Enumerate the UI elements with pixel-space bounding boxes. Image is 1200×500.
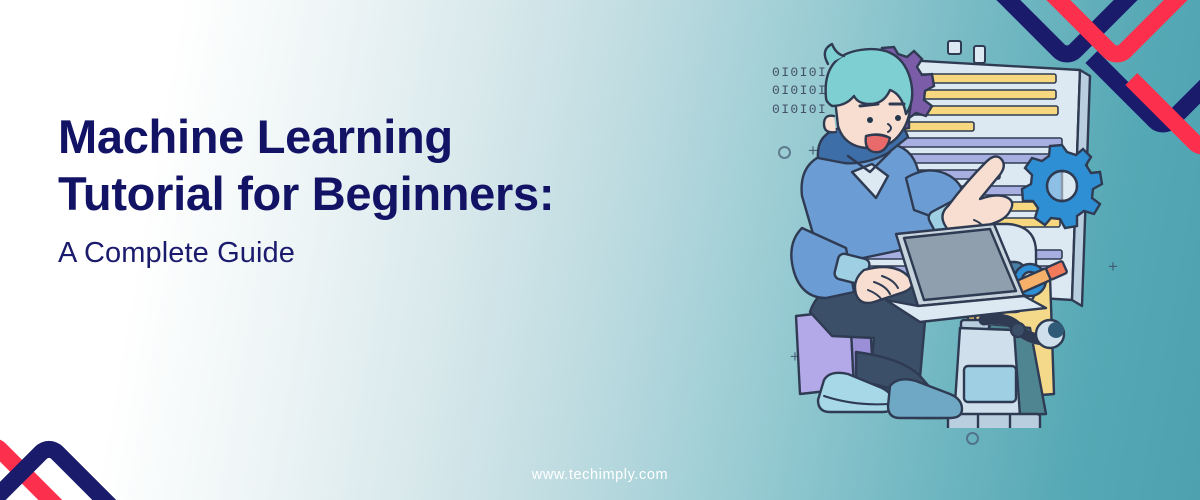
page-title: Machine Learning Tutorial for Beginners: — [58, 108, 678, 223]
circle-decoration-4 — [966, 432, 979, 445]
footer-website-url: www.techimply.com — [0, 467, 1200, 483]
page-subtitle: A Complete Guide — [58, 237, 678, 270]
heading-block: Machine Learning Tutorial for Beginners:… — [58, 108, 678, 270]
hero-illustration — [778, 28, 1138, 428]
banner: Machine Learning Tutorial for Beginners:… — [0, 0, 1200, 500]
